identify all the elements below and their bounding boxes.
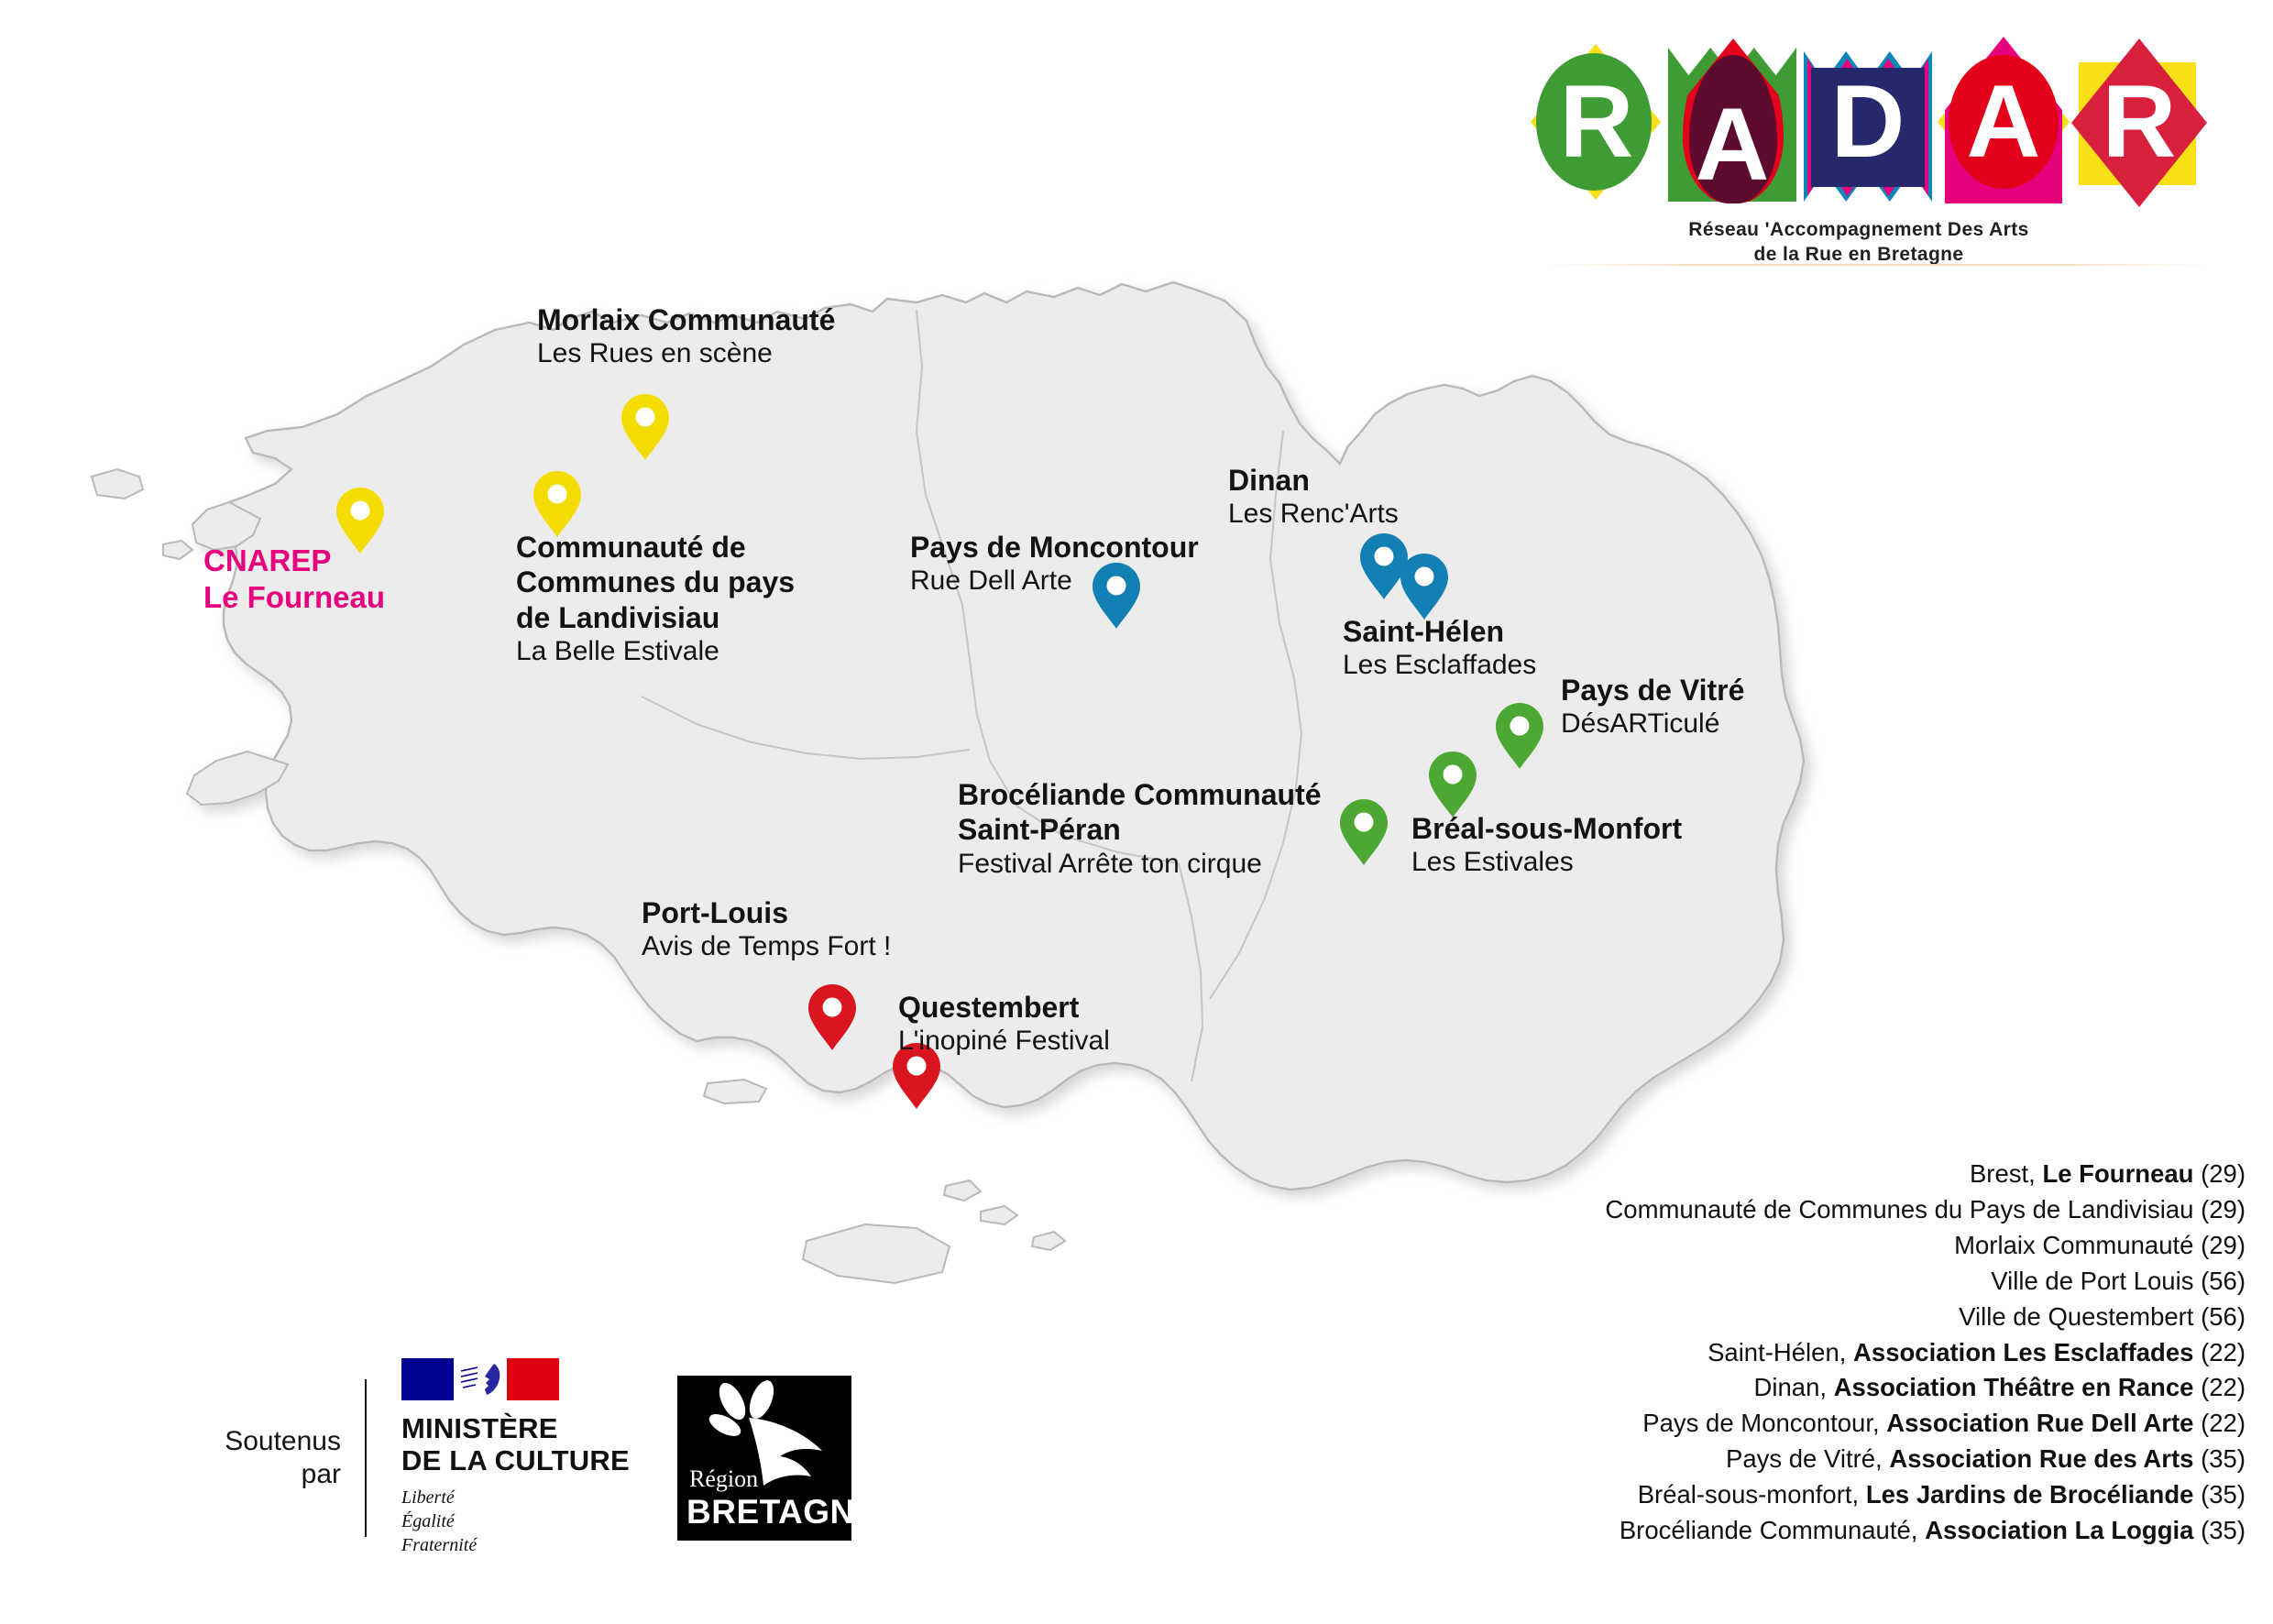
map-label-port-louis: Port-LouisAvis de Temps Fort ! (642, 895, 891, 964)
map-label-title: Bréal-sous-Monfort (1411, 811, 1682, 846)
legend-department-code: (35) (2193, 1516, 2246, 1544)
legend-territory: Communauté de Communes du Pays de Landiv… (1605, 1195, 2246, 1223)
legend-territory: Bréal-sous-monfort, (1638, 1480, 1866, 1509)
bretagne-word: BRETAGNE (686, 1493, 878, 1531)
flag-white-band (454, 1358, 506, 1400)
radar-logo: R A D (1510, 35, 2207, 282)
legend-territory: Dinan, (1754, 1373, 1834, 1401)
map-label-subtitle: La Belle Estivale (516, 635, 795, 669)
supported-by-text: Soutenus par (209, 1425, 365, 1491)
pin-icon (620, 392, 671, 462)
island-houat (981, 1206, 1017, 1224)
map-pin-port-louis[interactable] (807, 982, 858, 1052)
map-label-cnarep: CNAREPLe Fourneau (203, 543, 385, 616)
map-pin-morlaix[interactable] (620, 392, 671, 462)
motto-fraternite: Fraternité (401, 1534, 644, 1558)
legend-organisation: Les Jardins de Brocéliande (1866, 1480, 2194, 1509)
map-label-subtitle: Avis de Temps Fort ! (642, 930, 891, 964)
pin-icon (1494, 701, 1545, 771)
partner-legend-list: Brest, Le Fourneau (29)Communauté de Com… (1164, 1157, 2246, 1549)
map-pin-broceliande[interactable] (1338, 797, 1389, 867)
logo-glyph-a1: A (1664, 35, 1800, 209)
map-label-title: Communes du pays (516, 565, 795, 599)
map-label-subtitle: Les Renc'Arts (1228, 498, 1399, 532)
map-label-moncontour: Pays de MoncontourRue Dell Arte (910, 530, 1199, 598)
legend-territory: Ville de Questembert (56) (1959, 1302, 2246, 1331)
legend-department-code: (22) (2193, 1409, 2246, 1437)
map-pin-pays-de-vitre[interactable] (1494, 701, 1545, 771)
logo-letter-a2: A (1936, 35, 2071, 209)
region-word: Région (689, 1465, 758, 1493)
island-quiberon-tip (944, 1180, 981, 1201)
region-bretagne-logo: Région BRETAGNE (677, 1376, 851, 1541)
map-label-title: Saint-Hélen (1343, 614, 1536, 649)
legend-row: Communauté de Communes du Pays de Landiv… (1164, 1192, 2246, 1228)
legend-territory: Brest, (1970, 1159, 2042, 1188)
legend-territory: Pays de Vitré, (1726, 1444, 1889, 1473)
logo-letter-a1: A (1664, 35, 1800, 209)
map-label-title: Questembert (898, 990, 1110, 1025)
legend-row: Dinan, Association Théâtre en Rance (22) (1164, 1370, 2246, 1406)
island-hoedic (1032, 1232, 1065, 1250)
map-pin-breal[interactable] (1427, 750, 1478, 819)
map-label-title: Communauté de (516, 530, 795, 565)
legend-row: Pays de Moncontour, Association Rue Dell… (1164, 1406, 2246, 1442)
map-label-broceliande: Brocéliande CommunautéSaint-PéranFestiva… (958, 777, 1322, 881)
legend-organisation: Association Rue des Arts (1889, 1444, 2193, 1473)
flag-blue-band (401, 1358, 454, 1400)
pin-icon (532, 469, 583, 539)
map-label-subtitle: Les Rues en scène (537, 337, 835, 371)
legend-department-code: (35) (2193, 1480, 2246, 1509)
pin-icon (1399, 552, 1450, 621)
ministry-name-line2: DE LA CULTURE (401, 1445, 644, 1477)
legend-row: Saint-Hélen, Association Les Esclaffades… (1164, 1335, 2246, 1371)
map-label-title: Saint-Péran (958, 812, 1322, 847)
map-label-subtitle: Le Fourneau (203, 579, 385, 616)
pin-icon (1338, 797, 1389, 867)
map-label-title: Pays de Vitré (1561, 673, 1744, 708)
legend-row: Ville de Port Louis (56) (1164, 1264, 2246, 1300)
supported-by-line1: Soutenus (209, 1425, 341, 1458)
legend-territory: Morlaix Communauté (29) (1954, 1231, 2246, 1259)
map-label-title: Brocéliande Communauté (958, 777, 1322, 812)
ministry-name-line1: MINISTÈRE (401, 1413, 644, 1445)
legend-territory: Ville de Port Louis (56) (1991, 1267, 2246, 1295)
legend-department-code: (29) (2193, 1159, 2246, 1188)
legend-territory: Brocéliande Communauté, (1620, 1516, 1925, 1544)
map-label-title: CNAREP (203, 543, 385, 579)
map-pin-saint-helen[interactable] (1399, 552, 1450, 621)
logo-underline-rule (1547, 264, 2207, 266)
logo-glyph-d: D (1800, 35, 1936, 209)
motto-egalite: Égalité (401, 1510, 644, 1534)
pin-icon (807, 982, 858, 1052)
legend-organisation: Le Fourneau (2042, 1159, 2193, 1188)
ministry-of-culture-logo: MINISTÈRE DE LA CULTURE Liberté Égalité … (401, 1358, 644, 1557)
legend-organisation: Association La Loggia (1925, 1516, 2193, 1544)
island-ouessant (92, 469, 143, 499)
map-pin-landivisiau[interactable] (532, 469, 583, 539)
pin-icon (1427, 750, 1478, 819)
map-label-title: Dinan (1228, 463, 1399, 498)
map-label-title: Port-Louis (642, 895, 891, 930)
map-label-subtitle: Festival Arrête ton cirque (958, 848, 1322, 882)
logo-letter-d: D (1800, 35, 1936, 209)
map-label-saint-helen: Saint-HélenLes Esclaffades (1343, 614, 1536, 683)
legend-department-code: (22) (2193, 1338, 2246, 1366)
map-label-landivisiau: Communauté deCommunes du paysde Landivis… (516, 530, 795, 669)
french-flag-icon (401, 1358, 559, 1400)
republic-motto: Liberté Égalité Fraternité (401, 1487, 644, 1557)
logo-lettermark: R A D (1529, 35, 2189, 209)
legend-territory: Saint-Hélen, (1707, 1338, 1853, 1366)
map-label-title: de Landivisiau (516, 600, 795, 635)
logo-tagline-line1: Réseau 'Accompagnement Des Arts (1510, 218, 2207, 243)
legend-row: Pays de Vitré, Association Rue des Arts … (1164, 1442, 2246, 1477)
legend-department-code: (35) (2193, 1444, 2246, 1473)
logo-letter-r1: R (1529, 35, 1664, 209)
logo-glyph-r1: R (1529, 35, 1664, 209)
legend-row: Bréal-sous-monfort, Les Jardins de Brocé… (1164, 1477, 2246, 1513)
map-label-subtitle: Rue Dell Arte (910, 565, 1199, 598)
poster-root: R A D (0, 0, 2273, 1624)
map-label-dinan: DinanLes Renc'Arts (1228, 463, 1399, 532)
island-groix (704, 1080, 766, 1103)
legend-territory: Pays de Moncontour, (1642, 1409, 1886, 1437)
map-label-title: Pays de Moncontour (910, 530, 1199, 565)
legend-row: Morlaix Communauté (29) (1164, 1228, 2246, 1264)
legend-organisation: Association Les Esclaffades (1853, 1338, 2193, 1366)
island-sein (163, 541, 192, 559)
sponsor-bar: Soutenus par MINISTÈRE DE LA CULTURE (209, 1358, 851, 1557)
logo-letter-r2: R (2071, 35, 2207, 209)
map-label-breal: Bréal-sous-MonfortLes Estivales (1411, 811, 1682, 880)
island-belle-ile (803, 1224, 950, 1283)
logo-glyph-r2: R (2071, 35, 2207, 209)
supported-by-line2: par (209, 1458, 341, 1491)
map-label-subtitle: DésARTiculé (1561, 708, 1744, 741)
legend-department-code: (22) (2193, 1373, 2246, 1401)
ministry-name: MINISTÈRE DE LA CULTURE (401, 1413, 644, 1476)
map-label-title: Morlaix Communauté (537, 302, 835, 337)
logo-glyph-a2: A (1936, 35, 2071, 209)
map-label-subtitle: Les Esclaffades (1343, 649, 1536, 683)
logo-tagline: Réseau 'Accompagnement Des Arts de la Ru… (1510, 218, 2207, 268)
map-label-morlaix: Morlaix CommunautéLes Rues en scène (537, 302, 835, 371)
legend-row: Brest, Le Fourneau (29) (1164, 1157, 2246, 1192)
legend-row: Ville de Questembert (56) (1164, 1300, 2246, 1335)
sponsor-divider (365, 1379, 367, 1537)
legend-organisation: Association Théâtre en Rance (1834, 1373, 2194, 1401)
marianne-profile-icon (457, 1362, 509, 1397)
map-label-subtitle: L'inopiné Festival (898, 1025, 1110, 1059)
map-label-questembert: QuestembertL'inopiné Festival (898, 990, 1110, 1059)
flag-red-band (507, 1358, 559, 1400)
legend-organisation: Association Rue Dell Arte (1886, 1409, 2193, 1437)
motto-liberte: Liberté (401, 1487, 644, 1510)
map-label-subtitle: Les Estivales (1411, 846, 1682, 880)
map-label-pays-de-vitre: Pays de VitréDésARTiculé (1561, 673, 1744, 741)
legend-row: Brocéliande Communauté, Association La L… (1164, 1513, 2246, 1549)
